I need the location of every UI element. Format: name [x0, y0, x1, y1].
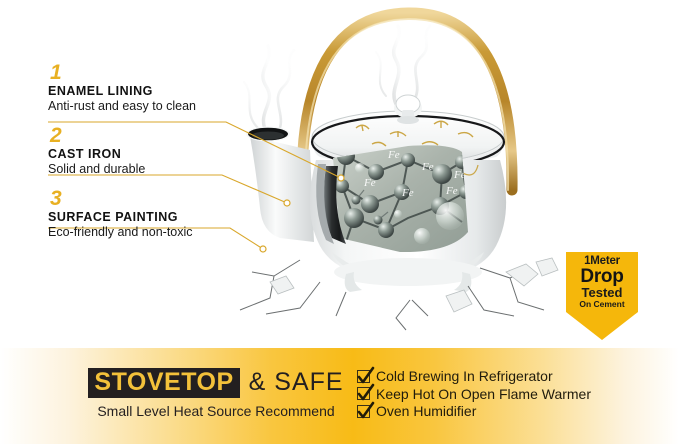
stovetop-headline: STOVETOP & SAFE	[70, 368, 362, 398]
kettle-body: Fe Fe Fe Fe Fe Fe	[310, 140, 506, 292]
drop-badge-line-3: Tested	[582, 286, 623, 300]
callout-number-1: 1	[50, 62, 298, 83]
callout-title-2: CAST IRON	[48, 147, 298, 161]
infographic-canvas: Fe Fe Fe Fe Fe Fe	[0, 0, 679, 444]
callout-subtitle-3: Eco-friendly and non-toxic	[48, 225, 298, 240]
callout-subtitle-1: Anti-rust and easy to clean	[48, 99, 298, 114]
checklist-label: Keep Hot On Open Flame Warmer	[376, 386, 591, 403]
callout-item-1: 1 ENAMEL LINING Anti-rust and easy to cl…	[48, 62, 298, 114]
checklist-item: Cold Brewing In Refrigerator	[357, 368, 591, 385]
svg-text:Fe: Fe	[421, 161, 434, 173]
callout-number-2: 2	[50, 125, 298, 146]
checklist-label: Oven Humidifier	[376, 403, 476, 420]
drop-badge-body: 1Meter Drop Tested On Cement	[566, 252, 638, 312]
svg-text:Fe: Fe	[363, 177, 376, 189]
down-arrow-icon	[566, 312, 638, 340]
checklist-item: Oven Humidifier	[357, 403, 591, 420]
callout-subtitle-2: Solid and durable	[48, 162, 298, 177]
drop-badge-line-2: Drop	[580, 267, 623, 286]
checkmark-icon	[357, 387, 370, 400]
checkmark-icon	[357, 405, 370, 418]
checklist-item: Keep Hot On Open Flame Warmer	[357, 386, 591, 403]
drop-test-badge: 1Meter Drop Tested On Cement	[558, 252, 646, 344]
stovetop-block: STOVETOP & SAFE Small Level Heat Source …	[70, 368, 362, 419]
svg-text:Fe: Fe	[445, 185, 458, 197]
stovetop-tag: STOVETOP	[88, 368, 239, 398]
checklist-label: Cold Brewing In Refrigerator	[376, 368, 553, 385]
callout-number-3: 3	[50, 188, 298, 209]
callout-item-2: 2 CAST IRON Solid and durable	[48, 125, 298, 177]
svg-text:Fe: Fe	[387, 149, 400, 161]
callout-item-3: 3 SURFACE PAINTING Eco-friendly and non-…	[48, 188, 298, 240]
stovetop-subtitle: Small Level Heat Source Recommend	[70, 404, 362, 419]
stovetop-safe-text: & SAFE	[249, 370, 344, 395]
callout-title-3: SURFACE PAINTING	[48, 210, 298, 224]
feature-callout-list: 1 ENAMEL LINING Anti-rust and easy to cl…	[48, 62, 298, 250]
svg-text:Fe: Fe	[401, 187, 414, 199]
checkmark-icon	[357, 370, 370, 383]
drop-badge-line-4: On Cement	[579, 300, 624, 309]
callout-title-1: ENAMEL LINING	[48, 84, 298, 98]
banner-checklist: Cold Brewing In Refrigerator Keep Hot On…	[357, 368, 591, 421]
